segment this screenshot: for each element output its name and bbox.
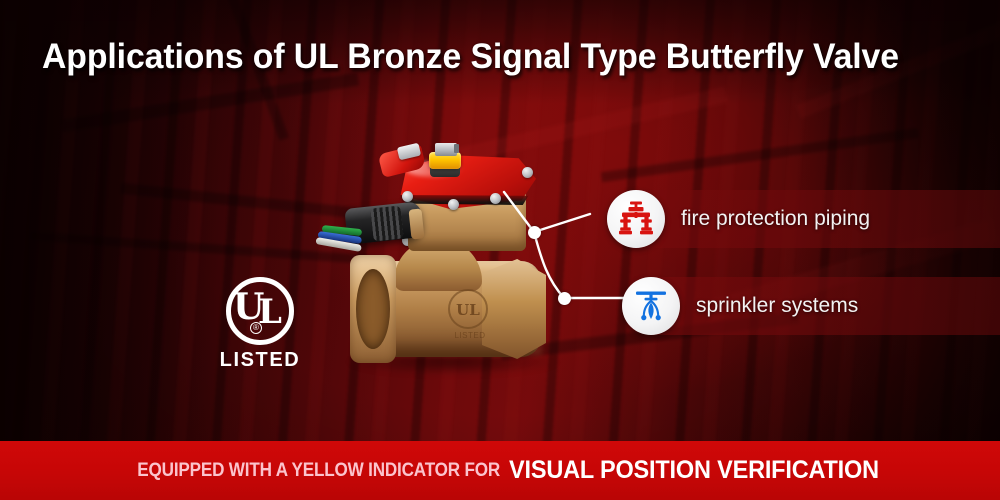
callout-label: fire protection piping <box>681 190 870 248</box>
valve-threaded-bore <box>356 269 390 349</box>
valve-cast-sub-mark: LISTED <box>442 331 498 340</box>
connector-node-branch <box>528 226 541 239</box>
connector-node-lower <box>558 292 571 305</box>
banner-prefix-text: EQUIPPED WITH A YELLOW INDICATOR FOR <box>138 460 501 482</box>
bottom-banner: EQUIPPED WITH A YELLOW INDICATOR FOR VIS… <box>0 441 1000 500</box>
fire-protection-piping-icon <box>607 190 665 248</box>
page-title: Applications of UL Bronze Signal Type Bu… <box>42 31 939 83</box>
indicator-pin <box>454 144 459 153</box>
sprinkler-head-icon <box>622 277 680 335</box>
marketing-banner: Applications of UL Bronze Signal Type Bu… <box>0 0 1000 500</box>
cover-screw-2 <box>448 199 459 210</box>
cable-gland-ribs <box>370 206 403 242</box>
ul-listed-mark: U L ® LISTED <box>215 277 305 377</box>
registered-trademark-icon: ® <box>250 322 262 334</box>
callout-label: sprinkler systems <box>696 277 858 335</box>
ul-letter-l: L <box>258 295 282 329</box>
valve-cast-ul-mark: UL <box>448 289 488 329</box>
ul-listed-label: LISTED <box>215 349 305 372</box>
cover-screw-1 <box>402 191 413 202</box>
banner-emphasis-text: VISUAL POSITION VERIFICATION <box>509 456 879 485</box>
